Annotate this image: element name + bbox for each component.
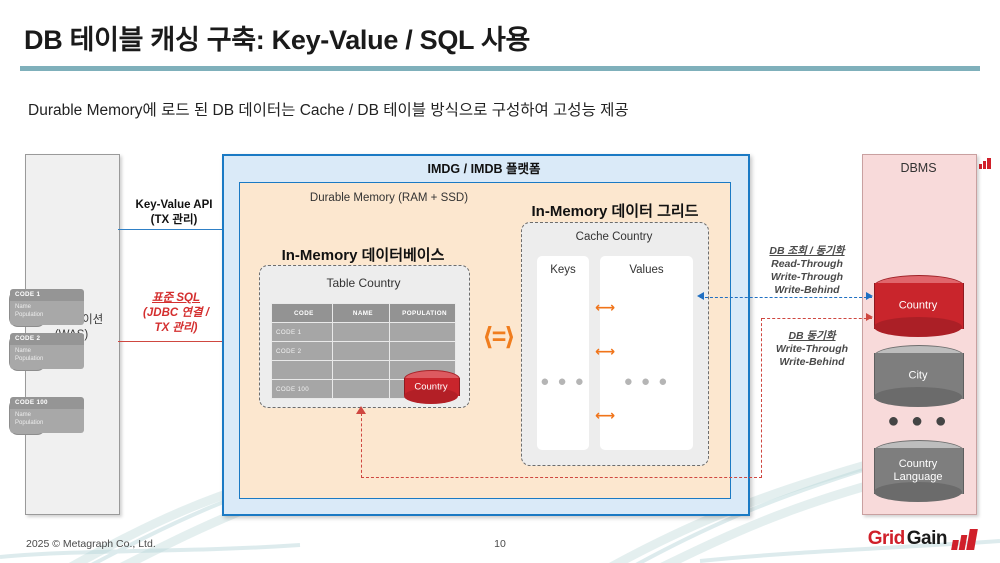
- gridgain-logo-part2: Gain: [907, 528, 947, 550]
- gridgain-bars-icon: [979, 158, 992, 169]
- values-ellipsis: ● ● ●: [600, 373, 693, 390]
- values-header: Values: [600, 264, 693, 276]
- table-header-row: CODE NAME POPULATION: [272, 304, 456, 323]
- dbms-title: DBMS: [862, 161, 975, 175]
- platform-title: IMDG / IMDB 플랫폼: [222, 158, 746, 177]
- key-value-pair-arrow-icon: ⟷: [591, 409, 619, 421]
- db-read-line4: Write-Behind: [742, 284, 872, 297]
- db-sync-line2: Write-Through: [752, 343, 872, 356]
- red-arrowhead-right: [866, 313, 873, 321]
- table-col-population: POPULATION: [390, 304, 456, 323]
- db-sync-line3: Write-Behind: [752, 356, 872, 369]
- table-col-code: CODE: [272, 304, 333, 323]
- cylinder-label: Country: [404, 381, 458, 394]
- key-value-pair-arrow-icon: ⟷: [591, 301, 619, 313]
- in-memory-database-title: In-Memory 데이터베이스: [253, 244, 473, 265]
- title-accent-rule: [20, 66, 980, 71]
- keys-column: Keys: [537, 256, 589, 450]
- red-dashed-top-segment: [762, 318, 872, 319]
- cylinder-bottom: [874, 387, 962, 407]
- cylinder-label: City: [874, 370, 962, 383]
- footer-page-number: 10: [0, 538, 1000, 550]
- value-card-header: CODE 100: [10, 397, 84, 409]
- in-memory-data-grid-title: In-Memory 데이터 그리드: [516, 200, 714, 221]
- blue-arrowhead-right: [866, 292, 873, 300]
- db-read-line3: Write-Through: [742, 271, 872, 284]
- sql-label-line1: 표준 SQL: [116, 291, 236, 306]
- table-row: CODE 1: [272, 323, 456, 342]
- dbms-cylinder-city: City: [874, 345, 962, 407]
- gridgain-logo-large: Grid Gain: [868, 528, 978, 550]
- cylinder-label: Country: [874, 300, 962, 313]
- cell-code: [272, 361, 333, 380]
- standard-sql-label: 표준 SQL (JDBC 연결 / TX 관리): [116, 291, 236, 336]
- value-card-body: NamePopulation: [10, 301, 84, 325]
- dbms-cylinder-country: Country: [874, 275, 962, 337]
- key-value-connector-line: [118, 229, 228, 230]
- sql-label-line2: (JDBC 연결 /: [116, 306, 236, 321]
- value-card: CODE 100 NamePopulation: [10, 397, 84, 433]
- red-dashed-bottom-segment: [361, 477, 762, 478]
- cell-name: [332, 380, 389, 399]
- gridgain-logo-part1: Grid: [868, 528, 905, 550]
- cell-code: CODE 2: [272, 342, 333, 361]
- kv-label-line2: (TX 관리): [118, 213, 230, 228]
- slide-root: DB 테이블 캐싱 구축: Key-Value / SQL 사용 Durable…: [0, 0, 1000, 563]
- db-sync-label: DB 동기화 Write-Through Write-Behind: [752, 330, 872, 369]
- page-title: DB 테이블 캐싱 구축: Key-Value / SQL 사용: [24, 18, 924, 57]
- value-card-body: NamePopulation: [10, 345, 84, 369]
- kv-label-line1: Key-Value API: [118, 198, 230, 213]
- value-card-header: CODE 1: [10, 289, 84, 301]
- value-card: CODE 2 NamePopulation: [10, 333, 84, 369]
- key-value-api-label: Key-Value API (TX 관리): [118, 198, 230, 228]
- value-card: CODE 1 NamePopulation: [10, 289, 84, 325]
- value-card-header: CODE 2: [10, 333, 84, 345]
- cylinder-label: CountryLanguage: [874, 458, 962, 484]
- db-read-line2: Read-Through: [742, 258, 872, 271]
- blue-dashed-connector: [700, 297, 872, 298]
- page-subtitle: Durable Memory에 로드 된 DB 데이터는 Cache / DB …: [28, 98, 968, 120]
- cell-name: [332, 361, 389, 380]
- cell-code: CODE 1: [272, 323, 333, 342]
- table-country-caption: Table Country: [259, 276, 468, 290]
- cylinder-bottom: [874, 482, 962, 502]
- sql-label-line3: TX 관리): [116, 321, 236, 336]
- keys-header: Keys: [537, 264, 589, 276]
- table-row: CODE 2: [272, 342, 456, 361]
- dbms-cylinder-country-language: CountryLanguage: [874, 440, 962, 502]
- keys-ellipsis: ● ● ●: [537, 373, 589, 390]
- table-country-cylinder: Country: [404, 370, 458, 404]
- blue-arrowhead-left: [697, 292, 704, 300]
- db-read-line1: DB 조회 / 동기화: [742, 245, 872, 258]
- cell-population: [390, 342, 456, 361]
- dbms-ellipsis: ● ● ●: [862, 410, 975, 433]
- key-value-pair-arrow-icon: ⟷: [591, 345, 619, 357]
- cell-population: [390, 323, 456, 342]
- cylinder-bottom: [874, 317, 962, 337]
- gridgain-bars-icon: [952, 529, 978, 550]
- value-card-body: NamePopulation: [10, 409, 84, 433]
- cell-name: [332, 323, 389, 342]
- cache-country-caption: Cache Country: [521, 231, 707, 243]
- durable-memory-label: Durable Memory (RAM + SSD): [239, 192, 539, 204]
- db-read-sync-label: DB 조회 / 동기화 Read-Through Write-Through W…: [742, 245, 872, 297]
- db-sync-line1: DB 동기화: [752, 330, 872, 343]
- cell-name: [332, 342, 389, 361]
- red-dashed-right-vertical: [761, 318, 762, 478]
- red-arrowhead-up: [356, 406, 366, 414]
- bidirectional-sync-arrow-icon: ⟨=⟩: [470, 322, 526, 352]
- cell-code: CODE 100: [272, 380, 333, 399]
- red-dashed-left-vertical: [361, 413, 362, 478]
- table-col-name: NAME: [332, 304, 389, 323]
